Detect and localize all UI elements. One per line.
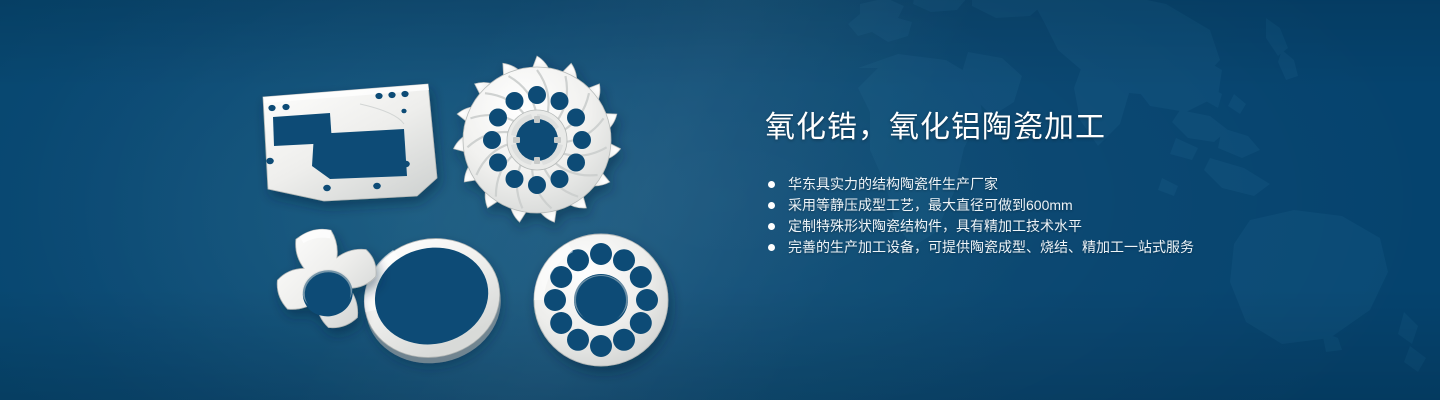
ceramic-ring-shape [353, 226, 512, 376]
bullet-dot-icon [768, 202, 775, 209]
ceramic-products-image [0, 0, 760, 400]
list-item: 定制特殊形状陶瓷结构件，具有精加工技术水平 [767, 216, 1385, 237]
list-item: 华东具实力的结构陶瓷件生产厂家 [767, 174, 1385, 195]
bullet-dot-icon [768, 181, 775, 188]
list-item-label: 华东具实力的结构陶瓷件生产厂家 [788, 176, 998, 192]
feature-list: 华东具实力的结构陶瓷件生产厂家 采用等静压成型工艺，最大直径可做到600mm 定… [767, 174, 1385, 258]
bullet-dot-icon [768, 244, 775, 251]
list-item: 采用等静压成型工艺，最大直径可做到600mm [767, 195, 1385, 216]
ceramic-impeller-shape [452, 56, 621, 225]
page-title: 氧化锆，氧化铝陶瓷加工 [765, 108, 1385, 148]
bullet-dot-icon [768, 223, 775, 230]
ceramic-plate-shape [263, 84, 437, 201]
banner-text-block: 氧化锆，氧化铝陶瓷加工 华东具实力的结构陶瓷件生产厂家 采用等静压成型工艺，最大… [765, 108, 1385, 258]
list-item-label: 采用等静压成型工艺，最大直径可做到600mm [788, 197, 1073, 213]
ceramic-processing-banner: 氧化锆，氧化铝陶瓷加工 华东具实力的结构陶瓷件生产厂家 采用等静压成型工艺，最大… [0, 0, 1440, 400]
list-item: 完善的生产加工设备，可提供陶瓷成型、烧结、精加工一站式服务 [767, 237, 1385, 258]
ceramic-cross-part-shape [270, 222, 383, 335]
list-item-label: 完善的生产加工设备，可提供陶瓷成型、烧结、精加工一站式服务 [788, 239, 1194, 255]
ceramic-perforated-disc-shape [534, 234, 668, 366]
list-item-label: 定制特殊形状陶瓷结构件，具有精加工技术水平 [788, 218, 1082, 234]
